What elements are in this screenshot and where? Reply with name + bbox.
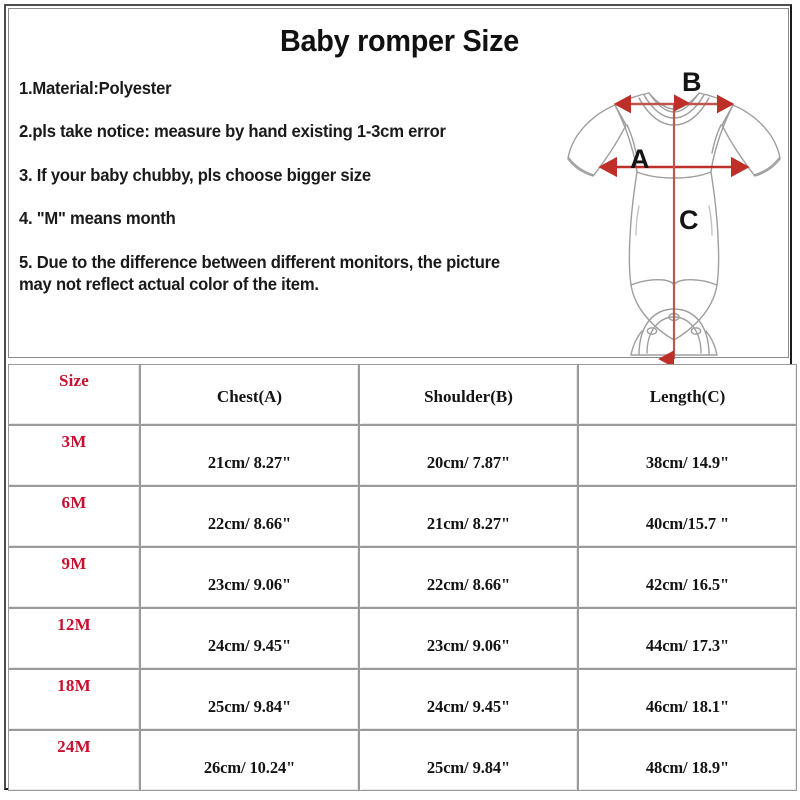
length-value: 40cm/15.7 " xyxy=(579,487,796,534)
dimension-label-c: C xyxy=(679,207,699,234)
length-value: 48cm/ 18.9" xyxy=(579,731,796,778)
cell-chest: 24cm/ 9.45" xyxy=(140,608,359,669)
table-row: 6M 22cm/ 8.66" 21cm/ 8.27" 40cm/15.7 " xyxy=(8,486,797,547)
table-row: 3M 21cm/ 8.27" 20cm/ 7.87" 38cm/ 14.9" xyxy=(8,425,797,486)
chest-value: 25cm/ 9.84" xyxy=(141,670,358,717)
cell-chest: 21cm/ 8.27" xyxy=(140,425,359,486)
shoulder-value: 20cm/ 7.87" xyxy=(360,426,577,473)
cell-size: 6M xyxy=(8,486,140,547)
note-item: 3. If your baby chubby, pls choose bigge… xyxy=(19,164,513,186)
note-item: 5. Due to the difference between differe… xyxy=(19,251,513,296)
length-value: 46cm/ 18.1" xyxy=(579,670,796,717)
note-item: 2.pls take notice: measure by hand exist… xyxy=(19,120,513,142)
dimension-label-a: A xyxy=(630,146,650,173)
size-label: 18M xyxy=(9,670,139,696)
header-cell-size: Size xyxy=(8,364,140,425)
table-row: 24M 26cm/ 10.24" 25cm/ 9.84" 48cm/ 18.9" xyxy=(8,730,797,791)
shoulder-value: 24cm/ 9.45" xyxy=(360,670,577,717)
size-table: Size Chest(A) Shoulder(B) Length(C) 3M 2… xyxy=(8,364,797,791)
shoulder-value: 25cm/ 9.84" xyxy=(360,731,577,778)
note-item: 1.Material:Polyester xyxy=(19,77,513,99)
cell-chest: 23cm/ 9.06" xyxy=(140,547,359,608)
table-row: 9M 23cm/ 9.06" 22cm/ 8.66" 42cm/ 16.5" xyxy=(8,547,797,608)
table-row: 18M 25cm/ 9.84" 24cm/ 9.45" 46cm/ 18.1" xyxy=(8,669,797,730)
size-chart-page: Baby romper Size 1.Material:Polyester 2.… xyxy=(0,0,800,800)
cell-size: 18M xyxy=(8,669,140,730)
header-cell-shoulder: Shoulder(B) xyxy=(359,364,578,425)
size-label: 24M xyxy=(9,731,139,757)
cell-shoulder: 25cm/ 9.84" xyxy=(359,730,578,791)
cell-size: 24M xyxy=(8,730,140,791)
page-title: Baby romper Size xyxy=(36,23,762,59)
cell-shoulder: 24cm/ 9.45" xyxy=(359,669,578,730)
cell-length: 40cm/15.7 " xyxy=(578,486,797,547)
chest-value: 22cm/ 8.66" xyxy=(141,487,358,534)
cell-length: 44cm/ 17.3" xyxy=(578,608,797,669)
cell-chest: 26cm/ 10.24" xyxy=(140,730,359,791)
shoulder-value: 21cm/ 8.27" xyxy=(360,487,577,534)
table-row: 12M 24cm/ 9.45" 23cm/ 9.06" 44cm/ 17.3" xyxy=(8,608,797,669)
cell-shoulder: 23cm/ 9.06" xyxy=(359,608,578,669)
romper-diagram: B A C xyxy=(549,59,799,367)
notes-list: 1.Material:Polyester 2.pls take notice: … xyxy=(19,77,539,295)
length-value: 42cm/ 16.5" xyxy=(579,548,796,595)
note-item: 4. "M" means month xyxy=(19,207,513,229)
cell-chest: 22cm/ 8.66" xyxy=(140,486,359,547)
size-label: 12M xyxy=(9,609,139,635)
chest-value: 21cm/ 8.27" xyxy=(141,426,358,473)
info-panel: Baby romper Size 1.Material:Polyester 2.… xyxy=(8,8,789,358)
dimension-label-b: B xyxy=(682,69,702,96)
cell-shoulder: 22cm/ 8.66" xyxy=(359,547,578,608)
cell-shoulder: 20cm/ 7.87" xyxy=(359,425,578,486)
cell-length: 38cm/ 14.9" xyxy=(578,425,797,486)
cell-size: 9M xyxy=(8,547,140,608)
size-label: 3M xyxy=(9,426,139,452)
cell-length: 48cm/ 18.9" xyxy=(578,730,797,791)
cell-length: 46cm/ 18.1" xyxy=(578,669,797,730)
shoulder-value: 22cm/ 8.66" xyxy=(360,548,577,595)
header-label-chest: Chest(A) xyxy=(141,365,358,407)
size-label: 6M xyxy=(9,487,139,513)
cell-size: 3M xyxy=(8,425,140,486)
header-label-length: Length(C) xyxy=(579,365,796,407)
cell-chest: 25cm/ 9.84" xyxy=(140,669,359,730)
table-header-row: Size Chest(A) Shoulder(B) Length(C) xyxy=(8,364,797,425)
header-cell-chest: Chest(A) xyxy=(140,364,359,425)
header-cell-length: Length(C) xyxy=(578,364,797,425)
cell-size: 12M xyxy=(8,608,140,669)
size-label: 9M xyxy=(9,548,139,574)
length-value: 44cm/ 17.3" xyxy=(579,609,796,656)
chest-value: 26cm/ 10.24" xyxy=(141,731,358,778)
romper-illustration-svg xyxy=(549,59,799,367)
shoulder-value: 23cm/ 9.06" xyxy=(360,609,577,656)
chest-value: 24cm/ 9.45" xyxy=(141,609,358,656)
header-label-size: Size xyxy=(9,365,139,391)
cell-length: 42cm/ 16.5" xyxy=(578,547,797,608)
cell-shoulder: 21cm/ 8.27" xyxy=(359,486,578,547)
chest-value: 23cm/ 9.06" xyxy=(141,548,358,595)
header-label-shoulder: Shoulder(B) xyxy=(360,365,577,407)
length-value: 38cm/ 14.9" xyxy=(579,426,796,473)
